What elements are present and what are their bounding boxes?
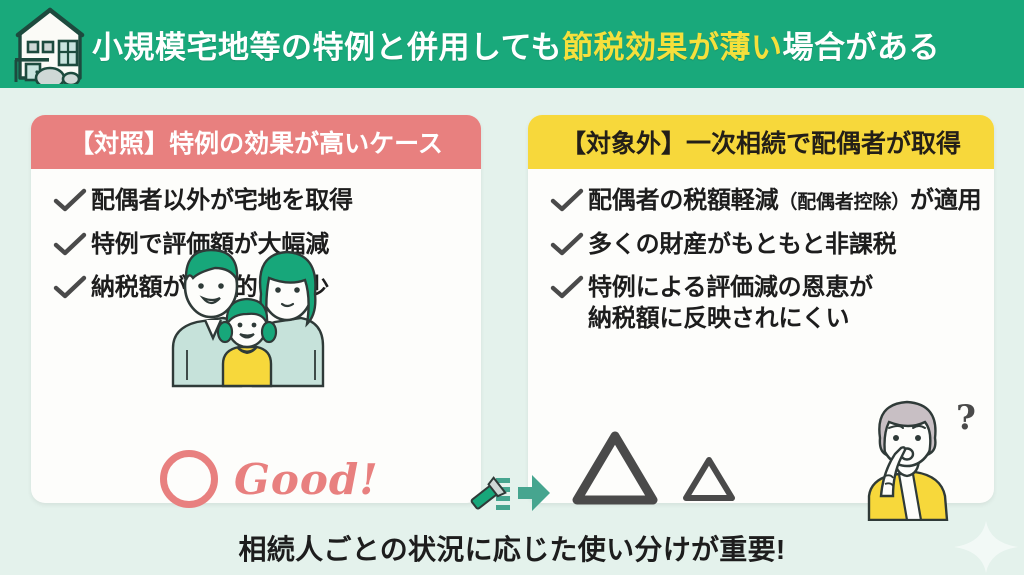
list-item-label-main: 配偶者の税額軽減: [588, 187, 778, 214]
list-item: 特例による評価減の恩恵が納税額に反映されにくい: [528, 273, 994, 334]
list-item-label: 多くの財産がもともと非課税: [588, 230, 896, 261]
house-icon: [0, 0, 92, 88]
check-icon: [53, 232, 91, 262]
check-icon: [550, 188, 588, 218]
page-title-part1: 小規模宅地等の特例と併用しても: [92, 30, 562, 65]
bullet-list-out-of-scope: 配偶者の税額軽減（配偶者控除）が適用 多くの財産がもともと非課税 特例による評価…: [528, 169, 994, 335]
verdict-good: Good!: [160, 450, 379, 508]
list-item-label-main: 特例による評価減の恩恵が: [588, 274, 873, 301]
card-header-comparison: 【対照】特例の効果が高いケース: [31, 115, 481, 169]
triangle-large-icon: [572, 430, 658, 511]
footer-label: 相続人ごとの状況に応じた使い分けが重要!: [238, 528, 785, 568]
check-icon: [550, 232, 588, 262]
page-title-part2: 場合がある: [783, 30, 941, 65]
sparkle-decoration: [954, 521, 1018, 573]
page-header: 小規模宅地等の特例と併用しても節税効果が薄い場合がある: [0, 0, 1024, 88]
list-item-label-cont: が適用: [910, 187, 981, 214]
list-item-label: 配偶者の税額軽減（配偶者控除）が適用: [588, 186, 981, 217]
check-icon: [550, 275, 588, 305]
page-title-highlight: 節税効果が薄い: [562, 30, 783, 65]
list-item-label: 配偶者以外が宅地を取得: [91, 186, 353, 217]
list-item: 配偶者以外が宅地を取得: [31, 186, 481, 217]
triangle-small-icon: [682, 455, 736, 508]
page-title: 小規模宅地等の特例と併用しても節税効果が薄い場合がある: [92, 22, 940, 67]
check-icon: [53, 188, 91, 218]
list-item: 配偶者の税額軽減（配偶者控除）が適用: [528, 186, 994, 217]
verdict-good-label: Good!: [234, 455, 379, 504]
card-header-out-of-scope: 【対象外】一次相続で配偶者が取得: [528, 115, 994, 169]
page-footer: 相続人ごとの状況に応じた使い分けが重要!: [0, 521, 1024, 575]
circle-o-icon: [160, 450, 218, 508]
list-item: 多くの財産がもともと非課税: [528, 230, 994, 261]
list-item-label-cont: 納税額に反映されにくい: [588, 305, 849, 332]
check-icon: [53, 275, 91, 305]
elderly-woman-thinking-illustration: [855, 392, 967, 527]
list-item-label: 特例による評価減の恩恵が納税額に反映されにくい: [588, 273, 873, 334]
list-item-label-note: （配偶者控除）: [778, 192, 910, 213]
family-of-three-illustration: [155, 228, 335, 393]
right-arrow-icon: [470, 470, 556, 521]
